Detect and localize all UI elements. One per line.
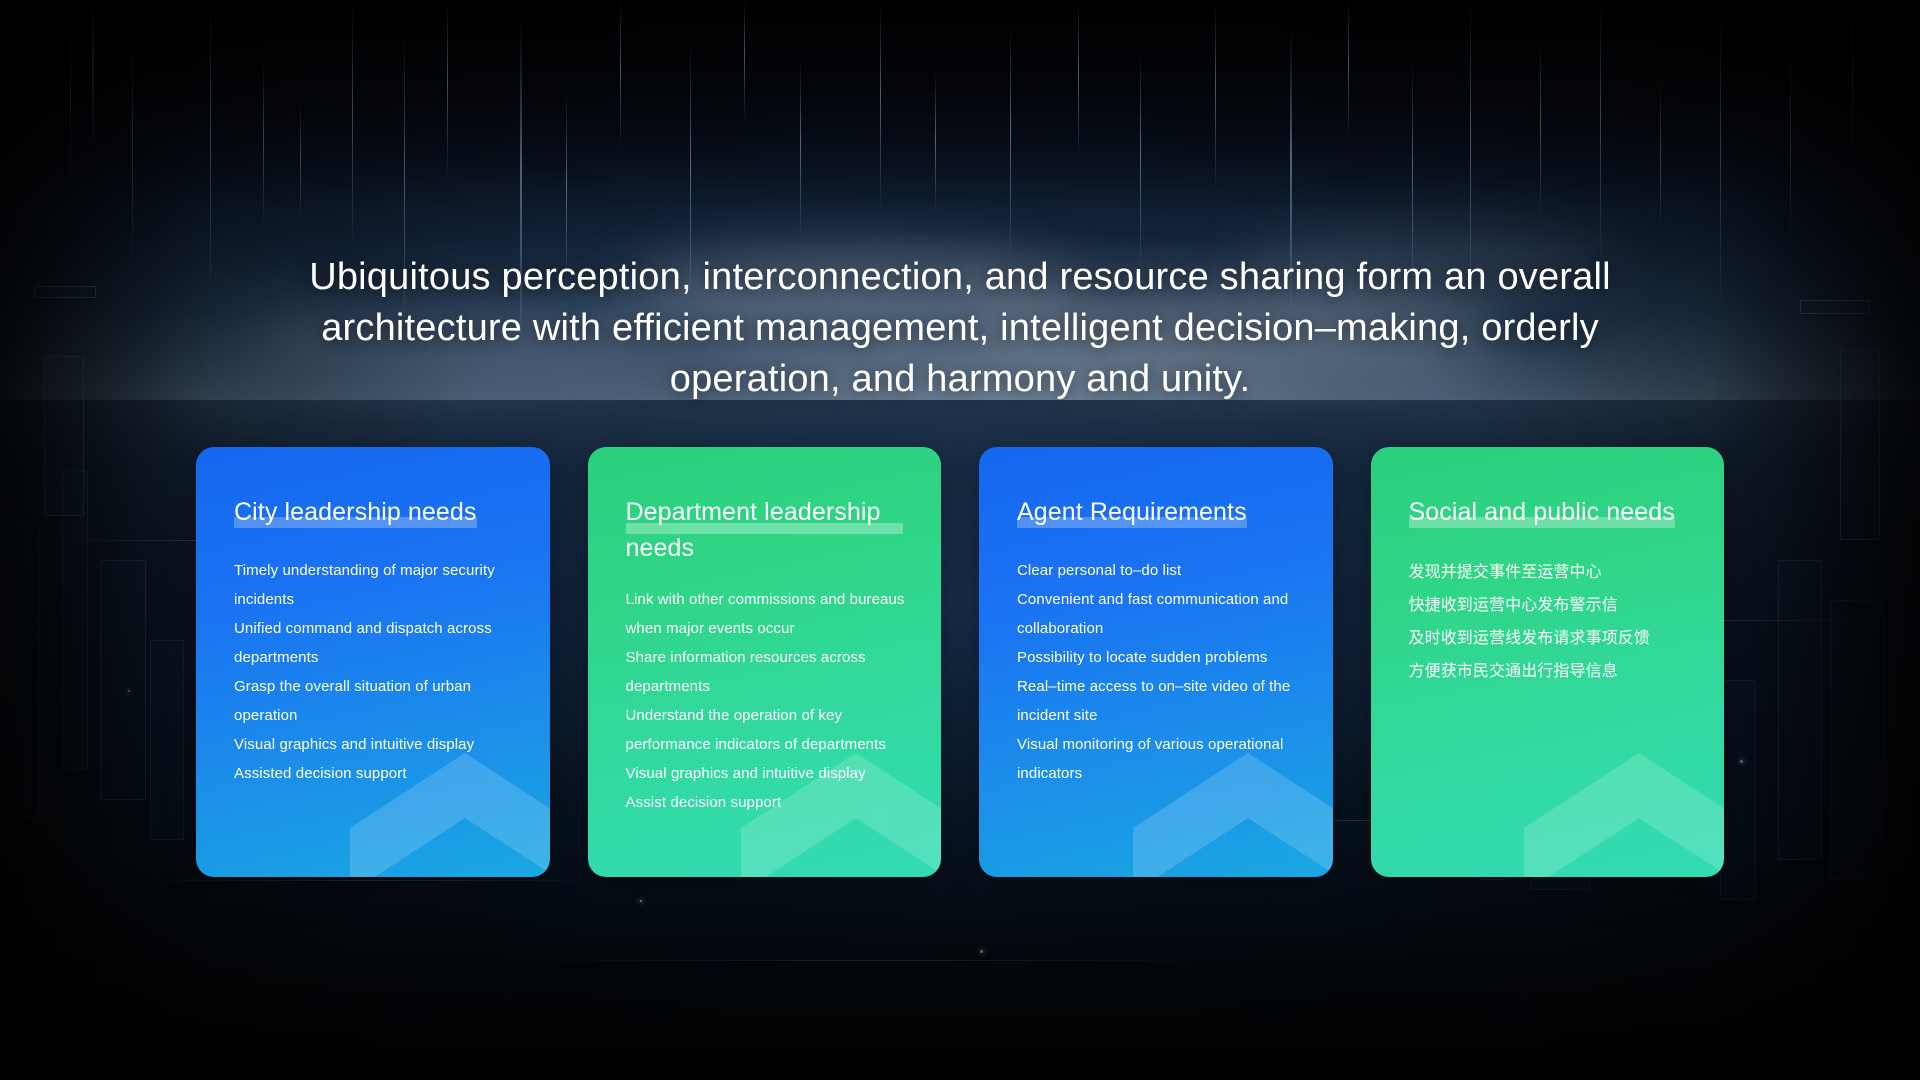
card-title: Social and public needs xyxy=(1409,494,1675,530)
list-item: 及时收到运营线发布请求事项反馈 xyxy=(1409,622,1693,655)
list-item: Possibility to locate sudden problems xyxy=(1017,643,1301,672)
list-item: 发现并提交事件至运营中心 xyxy=(1409,556,1693,589)
card-title-text: Social and public needs xyxy=(1409,498,1675,526)
list-item: Visual monitoring of various operational… xyxy=(1017,730,1301,788)
list-item: Grasp the overall situation of urban ope… xyxy=(234,672,518,730)
card-title-text: City leadership needs xyxy=(234,498,477,526)
card-item-list: Link with other commissions and bureaus … xyxy=(626,585,910,817)
chevron-watermark-icon xyxy=(1524,743,1724,877)
card-social-and-public-needs[interactable]: Social and public needs 发现并提交事件至运营中心 快捷收… xyxy=(1371,447,1725,877)
list-item: Understand the operation of key performa… xyxy=(626,701,910,759)
list-item: Unified command and dispatch across depa… xyxy=(234,614,518,672)
card-title-text: Agent Requirements xyxy=(1017,498,1247,526)
list-item: 快捷收到运营中心发布警示信 xyxy=(1409,589,1693,622)
list-item: Share information resources across depar… xyxy=(626,643,910,701)
list-item: Assisted decision support xyxy=(234,759,518,788)
list-item: 方便获市民交通出行指导信息 xyxy=(1409,655,1693,688)
list-item: Timely understanding of major security i… xyxy=(234,556,518,614)
card-title: Department leadership needs xyxy=(626,494,910,566)
list-item: Visual graphics and intuitive display xyxy=(626,759,910,788)
list-item: Assist decision support xyxy=(626,788,910,817)
card-city-leadership-needs[interactable]: City leadership needs Timely understandi… xyxy=(196,447,550,877)
list-item: Real–time access to on–site video of the… xyxy=(1017,672,1301,730)
list-item: Visual graphics and intuitive display xyxy=(234,730,518,759)
page-headline: Ubiquitous perception, interconnection, … xyxy=(250,252,1670,405)
card-title: Agent Requirements xyxy=(1017,494,1247,530)
list-item: Link with other commissions and bureaus … xyxy=(626,585,910,643)
list-item: Clear personal to–do list xyxy=(1017,556,1301,585)
card-item-list: 发现并提交事件至运营中心 快捷收到运营中心发布警示信 及时收到运营线发布请求事项… xyxy=(1409,556,1693,688)
card-department-leadership-needs[interactable]: Department leadership needs Link with ot… xyxy=(588,447,942,877)
card-item-list: Clear personal to–do list Convenient and… xyxy=(1017,556,1301,788)
card-agent-requirements[interactable]: Agent Requirements Clear personal to–do … xyxy=(979,447,1333,877)
card-item-list: Timely understanding of major security i… xyxy=(234,556,518,788)
list-item: Convenient and fast communication and co… xyxy=(1017,585,1301,643)
card-title: City leadership needs xyxy=(234,494,477,530)
needs-card-row: City leadership needs Timely understandi… xyxy=(196,447,1724,877)
